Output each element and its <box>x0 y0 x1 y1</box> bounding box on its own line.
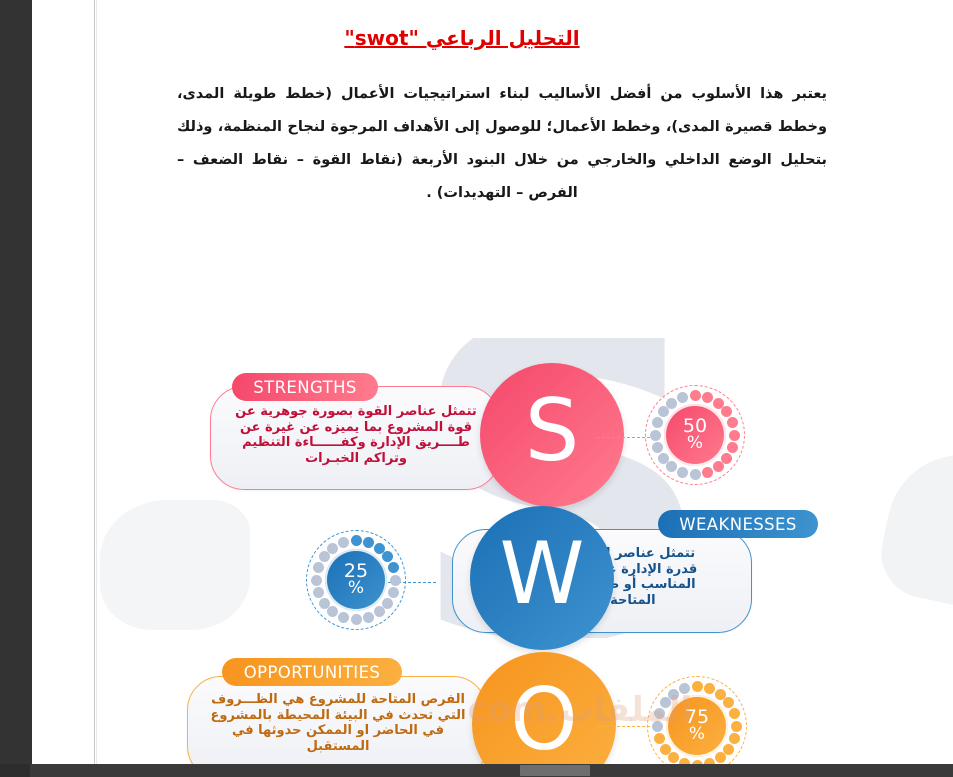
badge-dot <box>658 406 669 417</box>
horizontal-scrollbar-thumb[interactable] <box>520 765 590 776</box>
badge-dot <box>690 469 701 480</box>
intro-paragraph: يعتبر هذا الأسلوب من أفضل الأساليب لبناء… <box>177 78 827 210</box>
badge-dot <box>729 708 740 719</box>
badge-dot <box>313 562 324 573</box>
screenshot-root: التحليل الرباعي "swot" يعتبر هذا الأسلوب… <box>0 0 953 777</box>
badge-dot <box>713 461 724 472</box>
badge-dot <box>702 392 713 403</box>
badge-dot <box>715 752 726 763</box>
badge-dot <box>363 537 374 548</box>
badge-dot <box>390 575 401 586</box>
swot-percent-badge-strengths: 50% <box>645 385 745 485</box>
badge-dot <box>727 417 738 428</box>
watermark: الملفات.com <box>432 690 692 760</box>
badge-dot <box>382 598 393 609</box>
scrollbar-left-cap <box>0 764 30 777</box>
badge-dot <box>704 683 715 694</box>
app-left-gutter <box>0 0 32 764</box>
badge-dot <box>374 606 385 617</box>
badge-dot <box>677 392 688 403</box>
badge-dot <box>338 612 349 623</box>
badge-dot <box>313 587 324 598</box>
badge-dot <box>319 551 330 562</box>
badge-dot <box>721 406 732 417</box>
badge-dot <box>650 430 661 441</box>
swot-label-weaknesses[interactable]: WEAKNESSES <box>658 510 818 538</box>
badge-dot <box>731 721 742 732</box>
swot-body-strengths: تتمثل عناصر القوة بصورة جوهرية عن قوة ال… <box>220 404 492 466</box>
badge-dot <box>723 744 734 755</box>
swot-percent-badge-weaknesses: 25% <box>306 530 406 630</box>
badge-dot <box>721 453 732 464</box>
page-title: التحليل الرباعي "swot" <box>32 26 892 50</box>
document-page: التحليل الرباعي "swot" يعتبر هذا الأسلوب… <box>32 0 953 764</box>
badge-dot <box>729 733 740 744</box>
swot-letter-glyph-strengths: S <box>525 381 580 481</box>
badge-inner-weaknesses: 25% <box>325 549 387 611</box>
badge-dot <box>388 587 399 598</box>
document-body: التحليل الرباعي "swot" يعتبر هذا الأسلوب… <box>32 0 953 764</box>
badge-dot <box>363 612 374 623</box>
badge-dot <box>702 467 713 478</box>
decor-blob-right <box>873 441 953 619</box>
badge-dot <box>690 390 701 401</box>
badge-dot <box>382 551 393 562</box>
badge-dot <box>338 537 349 548</box>
swot-letter-weaknesses: W <box>470 506 614 650</box>
badge-dot <box>319 598 330 609</box>
badge-percent-symbol-weaknesses: % <box>348 580 364 597</box>
swot-label-strengths[interactable]: STRENGTHS <box>232 373 378 401</box>
swot-letter-strengths: S <box>480 363 624 507</box>
badge-dot <box>666 461 677 472</box>
badge-inner-strengths: 50% <box>664 404 726 466</box>
badge-dot <box>327 543 338 554</box>
badge-dot <box>388 562 399 573</box>
badge-dot <box>666 398 677 409</box>
badge-dot <box>652 417 663 428</box>
badge-percent-symbol-strengths: % <box>687 435 703 452</box>
swot-letter-glyph-weaknesses: W <box>499 524 584 624</box>
badge-dot <box>652 442 663 453</box>
badge-dot <box>351 535 362 546</box>
horizontal-scrollbar[interactable] <box>0 764 953 777</box>
swot-label-opportunities[interactable]: OPPORTUNITIES <box>222 658 402 686</box>
badge-dot <box>311 575 322 586</box>
badge-dot <box>658 453 669 464</box>
badge-dot <box>723 697 734 708</box>
badge-dot <box>692 681 703 692</box>
badge-dot <box>727 442 738 453</box>
badge-dot <box>729 430 740 441</box>
badge-dot <box>677 467 688 478</box>
badge-dot <box>351 614 362 625</box>
decor-blob-left <box>100 500 250 630</box>
badge-dot <box>327 606 338 617</box>
